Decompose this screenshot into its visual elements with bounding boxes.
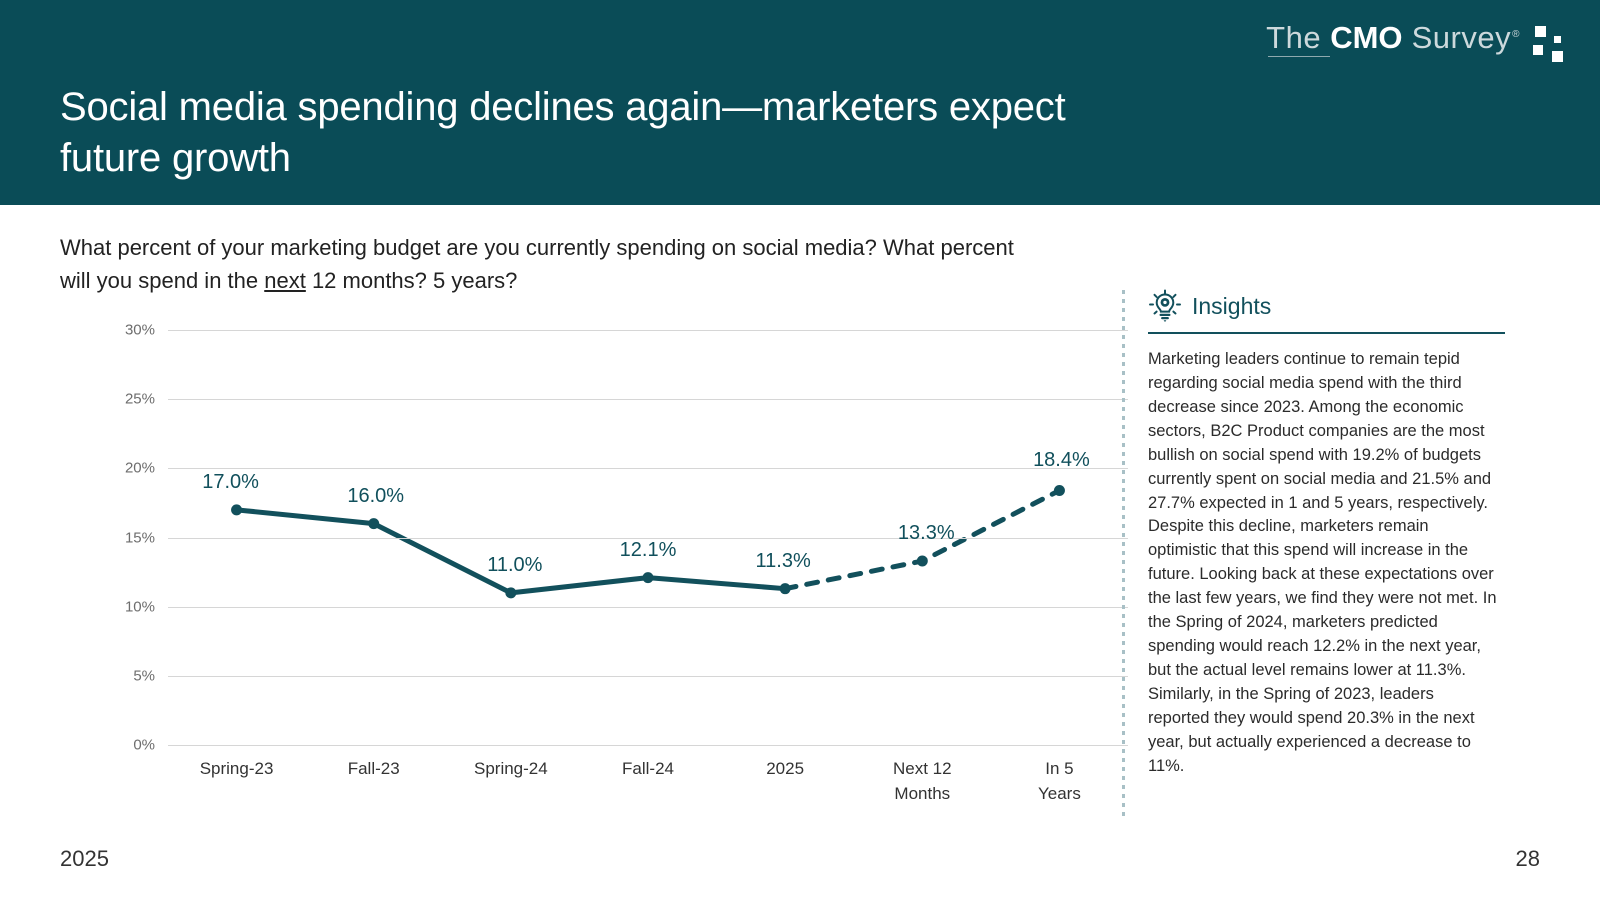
data-point-marker [368,518,379,529]
gridline: 0% [168,745,1128,746]
footer-year: 2025 [60,846,109,872]
y-axis-tick: 30% [125,322,155,339]
data-point-marker [1054,485,1065,496]
gridline: 25% [168,399,1128,400]
data-point-marker [780,583,791,594]
y-axis-tick: 20% [125,460,155,477]
y-axis-tick: 0% [133,737,155,754]
data-point-marker [917,556,928,567]
page-title: Social media spending declines again—mar… [60,82,1110,184]
data-point-marker [505,587,516,598]
gridline: 5% [168,676,1128,677]
x-axis-tick-label: Fall-23 [348,757,400,782]
x-axis-tick-label: Spring-24 [474,757,548,782]
question-emphasis: next [264,268,306,293]
x-axis-tick-label: 2025 [766,757,804,782]
y-axis-tick: 5% [133,667,155,684]
insights-header: Insights [1148,284,1520,328]
registered-mark: ® [1512,29,1520,40]
question-part-2: 12 months? 5 years? [306,268,518,293]
gridline: 10% [168,607,1128,608]
insights-body-text: Marketing leaders continue to remain tep… [1148,348,1498,779]
question-part-1: What percent of your marketing budget ar… [60,235,1014,293]
logo-survey: Survey [1403,20,1512,55]
x-axis-tick-label: Next 12 Months [893,757,952,806]
slide: Social media spending declines again—mar… [0,0,1600,900]
logo-the: The [1266,20,1330,55]
data-point-marker [231,504,242,515]
x-axis-tick-label: Fall-24 [622,757,674,782]
panel-divider [1122,290,1125,818]
gridline: 20% [168,468,1128,469]
data-point-label: 11.3% [756,550,811,573]
insights-panel: Insights Marketing leaders continue to r… [1148,284,1520,779]
gridline: 30% [168,330,1128,331]
data-point-label: 13.3% [898,522,955,545]
header-band: Social media spending declines again—mar… [0,0,1600,205]
social-media-spend-chart: 30%25%20%15%10%5%0%17.0%16.0%11.0%12.1%1… [60,315,1080,815]
cmo-survey-logo: The CMO Survey® [1266,22,1572,70]
y-axis-tick: 15% [125,529,155,546]
chart-plot-area: 30%25%20%15%10%5%0%17.0%16.0%11.0%12.1%1… [168,330,1128,745]
data-point-label: 17.0% [202,471,259,494]
logo-underline [1268,56,1330,57]
data-point-label: 16.0% [347,485,404,508]
insights-title: Insights [1192,293,1271,320]
actual-line-segment [237,510,786,593]
y-axis-tick: 10% [125,598,155,615]
logo-cmo: CMO [1330,20,1402,55]
insights-rule [1148,332,1505,334]
lightbulb-gear-icon [1148,289,1182,323]
footer-page-number: 28 [1516,846,1540,872]
x-axis-tick-label: In 5 Years [1038,757,1081,806]
data-point-label: 18.4% [1033,449,1090,472]
logo-dots-icon [1526,24,1572,70]
data-point-label: 12.1% [620,539,677,562]
data-point-label: 11.0% [487,554,542,577]
x-axis-tick-label: Spring-23 [200,757,274,782]
data-point-marker [643,572,654,583]
x-axis-labels: Spring-23Fall-23Spring-24Fall-242025Next… [168,757,1128,817]
survey-question: What percent of your marketing budget ar… [60,231,1020,298]
logo-wordmark: The CMO Survey® [1266,22,1520,57]
y-axis-tick: 25% [125,391,155,408]
